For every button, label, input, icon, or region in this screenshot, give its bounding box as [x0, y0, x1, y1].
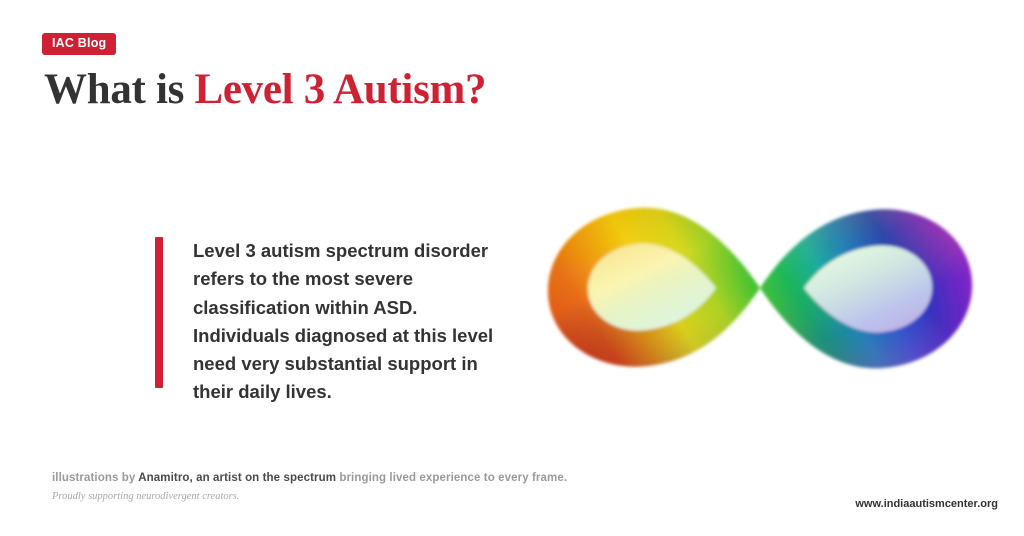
quote-text: Level 3 autism spectrum disorder refers …	[193, 237, 503, 407]
iac-blog-badge: IAC Blog	[42, 33, 116, 55]
page-title: What is Level 3 Autism?	[44, 65, 486, 114]
quote-accent-bar	[155, 237, 163, 388]
page-title-accent: Level 3 Autism?	[195, 66, 487, 113]
footer-subtitle: Proudly supporting neurodivergent creato…	[52, 491, 239, 502]
footer-website-url[interactable]: www.indiaautismcenter.org	[855, 498, 998, 510]
rainbow-infinity-icon	[520, 168, 1000, 408]
poster-canvas: IAC Blog What is Level 3 Autism? Level 3…	[0, 0, 1024, 536]
illustration-credit: illustrations by Anamitro, an artist on …	[52, 472, 567, 484]
credit-prefix: illustrations by	[52, 472, 138, 484]
quote-block: Level 3 autism spectrum disorder refers …	[155, 237, 503, 407]
page-title-lead: What is	[44, 66, 195, 113]
credit-suffix: bringing lived experience to every frame…	[336, 472, 567, 484]
credit-artist: Anamitro, an artist on the spectrum	[138, 472, 336, 484]
